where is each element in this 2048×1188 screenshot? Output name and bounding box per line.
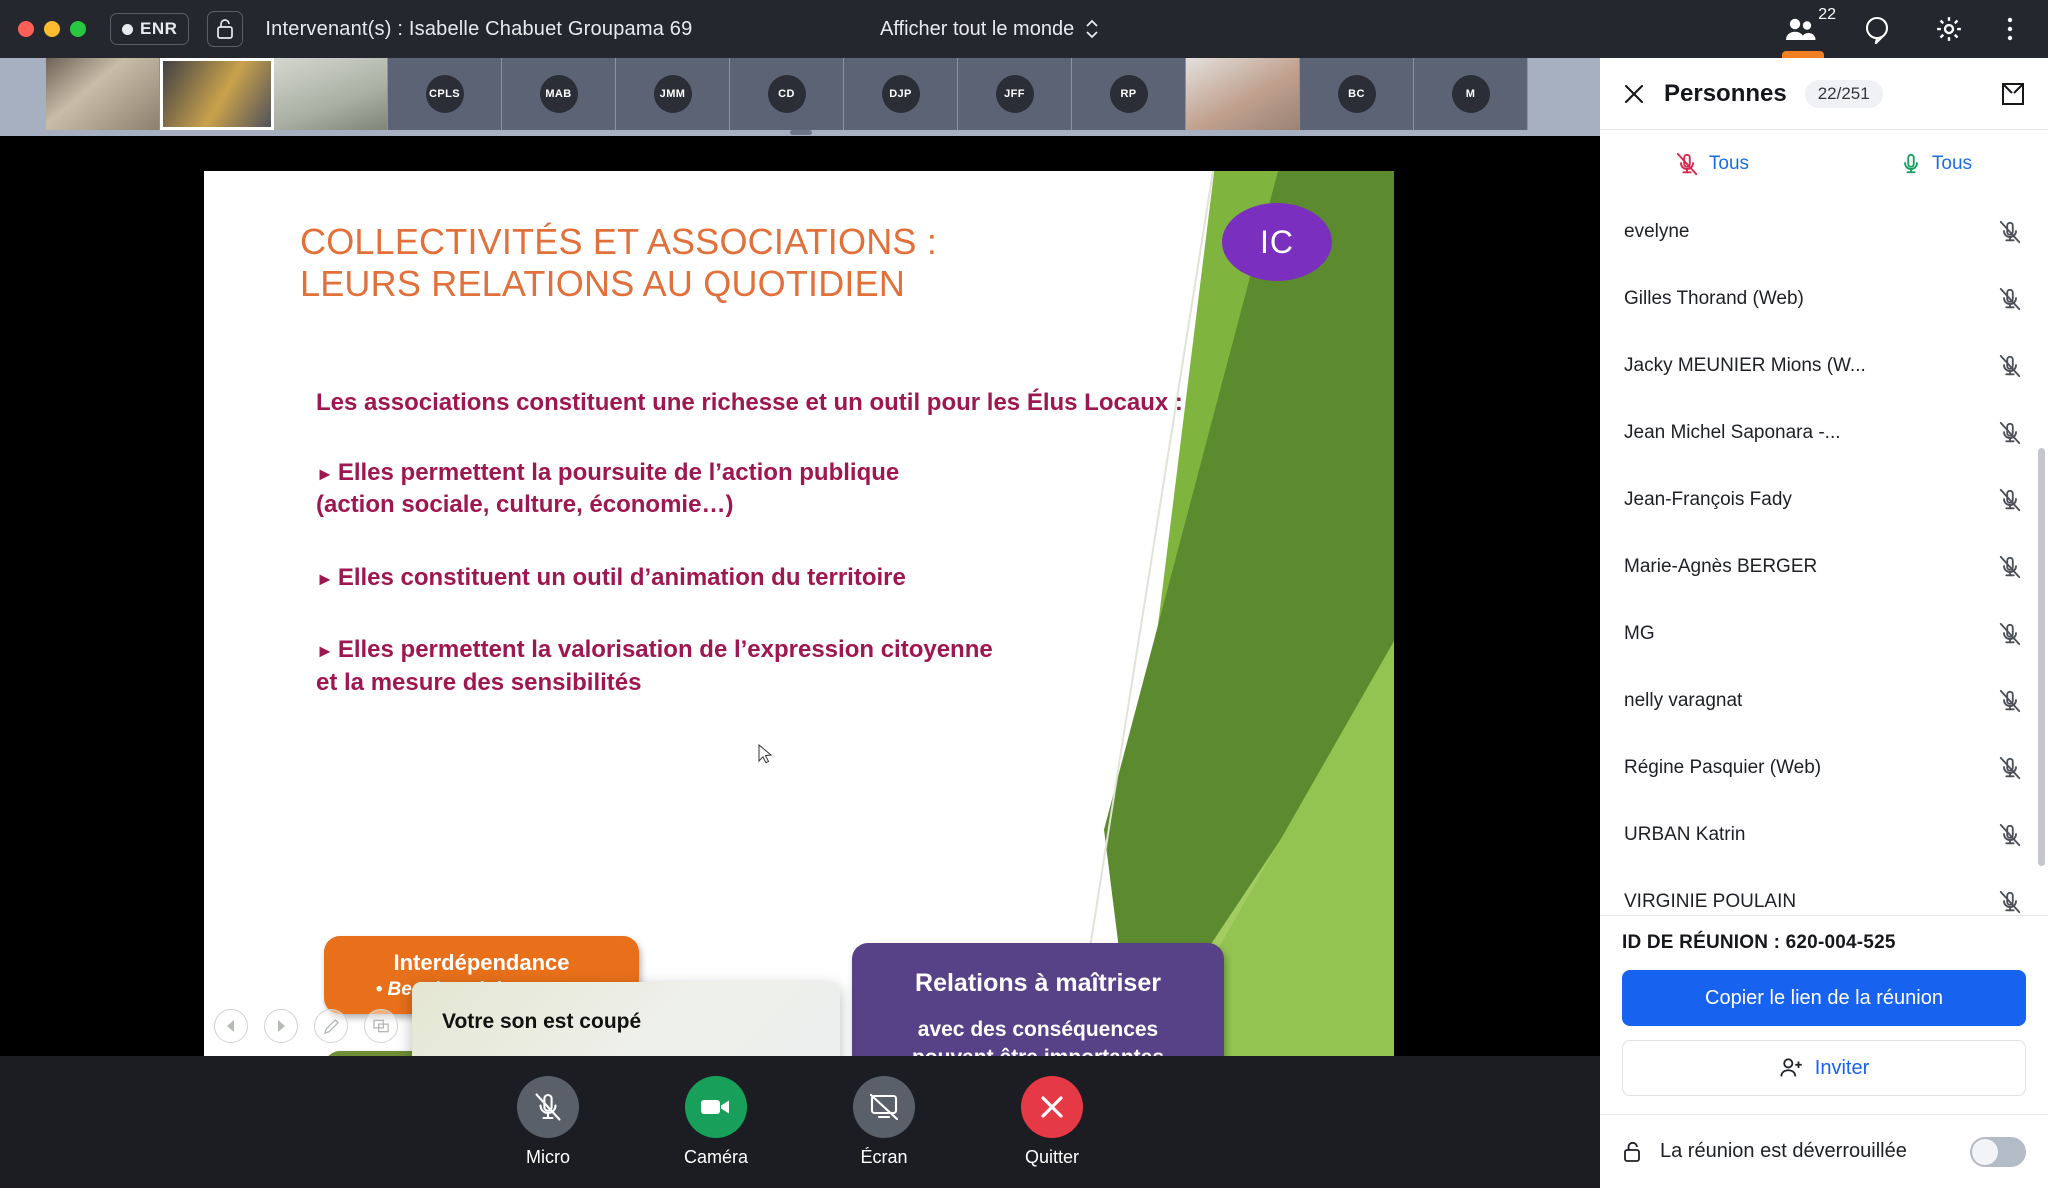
- minimize-window-button[interactable]: [44, 21, 60, 37]
- leave-button-label: Quitter: [1025, 1147, 1079, 1168]
- close-icon: [1039, 1094, 1065, 1120]
- list-item[interactable]: Jean Michel Saponara -...: [1600, 399, 2048, 466]
- tab-mute-all[interactable]: Tous: [1600, 151, 1824, 177]
- close-window-button[interactable]: [18, 21, 34, 37]
- panel-count-badge: 22/251: [1805, 80, 1883, 108]
- slide-lead-text: Les associations constituent une richess…: [316, 389, 1326, 417]
- filmstrip-thumb[interactable]: [46, 58, 160, 130]
- mic-button-label: Micro: [526, 1147, 570, 1168]
- presenter-initials: IC: [1260, 224, 1294, 261]
- mic-off-icon[interactable]: [1998, 822, 2022, 848]
- avatar: BC: [1338, 75, 1376, 113]
- slide-bullet: ►Elles permettent la valorisation de l’e…: [316, 634, 1326, 699]
- more-options-button[interactable]: [2006, 0, 2014, 58]
- participant-count-badge: 22: [1818, 6, 1836, 24]
- panel-title: Personnes: [1664, 80, 1787, 108]
- mic-off-icon: [1675, 151, 1699, 177]
- slide-body: Les associations constituent une richess…: [316, 389, 1326, 739]
- filmstrip-thumb[interactable]: BC: [1300, 58, 1414, 130]
- avatar: DJP: [882, 75, 920, 113]
- participant-name: Jean Michel Saponara -...: [1624, 422, 1841, 444]
- participant-name: Gilles Thorand (Web): [1624, 288, 1804, 310]
- participants-panel: Personnes 22/251: [1600, 58, 2048, 1188]
- list-item[interactable]: Marie-Agnès BERGER: [1600, 533, 2048, 600]
- copy-meeting-link-button[interactable]: Copier le lien de la réunion: [1622, 970, 2026, 1026]
- camera-icon: [700, 1096, 732, 1118]
- screen-share-button[interactable]: Écran: [826, 1076, 942, 1168]
- meeting-lock-row[interactable]: La réunion est déverrouillée: [1600, 1114, 2048, 1188]
- participant-name: Marie-Agnès BERGER: [1624, 556, 1817, 578]
- participant-name: Régine Pasquier (Web): [1624, 757, 1821, 779]
- shared-screen-stage: COLLECTIVITÉS ET ASSOCIATIONS : LEURS RE…: [0, 136, 1600, 1056]
- leave-button-circle[interactable]: [1021, 1076, 1083, 1138]
- unlock-icon: [1622, 1140, 1644, 1164]
- mic-off-icon[interactable]: [1998, 219, 2022, 245]
- slide-overview-button[interactable]: [364, 1009, 398, 1043]
- avatar: MAB: [540, 75, 578, 113]
- list-item[interactable]: evelyne: [1600, 198, 2048, 265]
- tab-mute-all-label: Tous: [1709, 153, 1749, 175]
- lock-toggle-knob: [1972, 1139, 1998, 1165]
- chat-bubble-icon: [1862, 14, 1892, 44]
- mic-off-icon[interactable]: [1998, 420, 2022, 446]
- mic-off-icon[interactable]: [1998, 554, 2022, 580]
- unlock-icon: [215, 18, 235, 40]
- chat-button[interactable]: [1862, 0, 1892, 58]
- list-item[interactable]: Jean-François Fady: [1600, 466, 2048, 533]
- mic-off-icon[interactable]: [1998, 688, 2022, 714]
- avatar: M: [1452, 75, 1490, 113]
- participant-name: evelyne: [1624, 221, 1690, 243]
- close-panel-button[interactable]: [1622, 82, 1646, 106]
- avatar: CPLS: [426, 75, 464, 113]
- kebab-menu-icon: [2006, 15, 2014, 43]
- titlebar-actions: 22: [1600, 0, 2048, 58]
- participant-name: Jean-François Fady: [1624, 489, 1792, 511]
- active-tab-indicator: [1782, 51, 1824, 58]
- participants-list[interactable]: evelyne Gilles Thorand (Web): [1600, 198, 2048, 915]
- slide-bullet: ►Elles permettent la poursuite de l’acti…: [316, 457, 1326, 522]
- mic-off-icon: [533, 1091, 563, 1123]
- popout-panel-button[interactable]: [2000, 81, 2026, 107]
- slide-title: COLLECTIVITÉS ET ASSOCIATIONS : LEURS RE…: [300, 221, 1060, 306]
- bullet-text: Elles constituent un outil d’animation d…: [338, 564, 906, 591]
- participant-name: nelly varagnat: [1624, 690, 1742, 712]
- mic-button[interactable]: Micro: [490, 1076, 606, 1168]
- mic-off-icon[interactable]: [1998, 755, 2022, 781]
- avatar: JMM: [654, 75, 692, 113]
- list-item[interactable]: MG: [1600, 600, 2048, 667]
- filmstrip-thumb[interactable]: [160, 58, 274, 130]
- slide-bullet: ►Elles constituent un outil d’animation …: [316, 562, 1326, 594]
- filmstrip-thumb[interactable]: M: [1414, 58, 1528, 130]
- filmstrip-thumb[interactable]: MAB: [502, 58, 616, 130]
- filmstrip-thumb[interactable]: RP: [1072, 58, 1186, 130]
- participants-scrollbar[interactable]: [2038, 448, 2045, 866]
- panel-tabs: Tous Tous: [1600, 130, 2048, 198]
- list-item[interactable]: Gilles Thorand (Web): [1600, 265, 2048, 332]
- bullet-text-cont: (action sociale, culture, économie…): [316, 489, 1326, 521]
- participant-name: MG: [1624, 623, 1655, 645]
- box-title: Interdépendance: [393, 950, 569, 976]
- meeting-toolbar: Micro Caméra: [0, 1056, 1600, 1188]
- participant-filmstrip[interactable]: CPLS MAB JMM CD DJP JFF RP BC M: [0, 58, 1600, 136]
- slide-title-line2: LEURS RELATIONS AU QUOTIDIEN: [300, 263, 1060, 305]
- bullet-text: Elles permettent la valorisation de l’ex…: [338, 636, 993, 663]
- recording-dot-icon: [122, 24, 133, 35]
- pen-tool-button[interactable]: [314, 1009, 348, 1043]
- list-item[interactable]: Régine Pasquier (Web): [1600, 734, 2048, 801]
- panel-header: Personnes 22/251: [1600, 58, 2048, 130]
- list-item[interactable]: URBAN Katrin: [1600, 801, 2048, 868]
- play-slide-button[interactable]: [264, 1009, 298, 1043]
- camera-button-circle[interactable]: [685, 1076, 747, 1138]
- slide-title-line1: COLLECTIVITÉS ET ASSOCIATIONS :: [300, 221, 1060, 263]
- filmstrip-track[interactable]: CPLS MAB JMM CD DJP JFF RP BC M: [46, 58, 1528, 130]
- meeting-id-label: ID DE RÉUNION : 620-004-525: [1622, 932, 2026, 954]
- leave-button[interactable]: Quitter: [994, 1076, 1110, 1168]
- filmstrip-thumb[interactable]: [1186, 58, 1300, 130]
- participants-button[interactable]: 22: [1786, 0, 1820, 58]
- filmstrip-thumb[interactable]: JMM: [616, 58, 730, 130]
- mic-off-icon[interactable]: [1998, 353, 2022, 379]
- participant-name: URBAN Katrin: [1624, 824, 1745, 846]
- bullet-arrow-icon: ►: [316, 641, 334, 661]
- view-selector-label: Afficher tout le monde: [880, 18, 1074, 41]
- tab-unmute-all-label: Tous: [1932, 153, 1972, 175]
- meeting-window: ENR Intervenant(s) : Isabelle Chabuet Gr…: [0, 0, 2048, 1188]
- list-item[interactable]: nelly varagnat: [1600, 667, 2048, 734]
- screen-share-button-circle[interactable]: [853, 1076, 915, 1138]
- filmstrip-thumb[interactable]: CD: [730, 58, 844, 130]
- recording-badge[interactable]: ENR: [110, 13, 189, 45]
- participant-name: VIRGINIE POULAIN: [1624, 891, 1796, 913]
- bullet-text: Elles permettent la poursuite de l’actio…: [338, 459, 899, 486]
- window-controls[interactable]: [18, 21, 86, 37]
- mic-off-icon[interactable]: [1998, 889, 2022, 915]
- recording-label: ENR: [140, 19, 177, 39]
- participant-name: Jacky MEUNIER Mions (W...: [1624, 355, 1866, 377]
- filmstrip-thumb[interactable]: CPLS: [388, 58, 502, 130]
- lock-button[interactable]: [207, 11, 243, 47]
- lock-toggle[interactable]: [1970, 1137, 2026, 1167]
- mic-off-icon[interactable]: [1998, 621, 2022, 647]
- mic-on-icon: [1900, 151, 1922, 177]
- tooltip-title: Votre son est coupé: [442, 1010, 810, 1034]
- box-subtitle-line1: avec des conséquences: [918, 1016, 1158, 1044]
- previous-slide-button[interactable]: [214, 1009, 248, 1043]
- invite-button-label: Inviter: [1815, 1057, 1869, 1080]
- bullet-arrow-icon: ►: [316, 464, 334, 484]
- mouse-cursor-icon: [758, 744, 774, 766]
- filmstrip-resize-handle[interactable]: [790, 130, 812, 135]
- settings-button[interactable]: [1934, 0, 1964, 58]
- presenter-avatar: IC: [1222, 203, 1332, 281]
- list-item[interactable]: VIRGINIE POULAIN: [1600, 868, 2048, 915]
- screen-share-button-label: Écran: [860, 1147, 907, 1168]
- invite-button[interactable]: Inviter: [1622, 1040, 2026, 1096]
- gear-icon: [1934, 14, 1964, 44]
- avatar: CD: [768, 75, 806, 113]
- mic-button-circle[interactable]: [517, 1076, 579, 1138]
- filmstrip-thumb[interactable]: [274, 58, 388, 130]
- title-bar: ENR Intervenant(s) : Isabelle Chabuet Gr…: [0, 0, 1600, 58]
- view-selector[interactable]: Afficher tout le monde: [880, 0, 1100, 58]
- avatar: JFF: [996, 75, 1034, 113]
- filmstrip-thumb[interactable]: DJP: [844, 58, 958, 130]
- people-icon: [1786, 16, 1820, 42]
- presenter-label: Intervenant(s) : Isabelle Chabuet Groupa…: [265, 18, 692, 41]
- list-item[interactable]: Jacky MEUNIER Mions (W...: [1600, 332, 2048, 399]
- lock-status-label: La réunion est déverrouillée: [1660, 1140, 1954, 1163]
- bullet-text-cont: et la mesure des sensibilités: [316, 667, 1326, 699]
- bullet-arrow-icon: ►: [316, 569, 334, 589]
- camera-button[interactable]: Caméra: [658, 1076, 774, 1168]
- panel-footer: ID DE RÉUNION : 620-004-525 Copier le li…: [1600, 915, 2048, 1096]
- maximize-window-button[interactable]: [70, 21, 86, 37]
- add-user-icon: [1779, 1056, 1805, 1080]
- chevron-updown-icon: [1084, 16, 1100, 42]
- avatar: RP: [1110, 75, 1148, 113]
- screen-off-icon: [869, 1093, 899, 1121]
- box-title: Relations à maîtriser: [915, 969, 1161, 998]
- slide-box-relations: Relations à maîtriser avec des conséquen…: [852, 943, 1224, 1061]
- presentation-slide: COLLECTIVITÉS ET ASSOCIATIONS : LEURS RE…: [204, 171, 1394, 1061]
- tab-unmute-all[interactable]: Tous: [1824, 151, 2048, 177]
- filmstrip-thumb[interactable]: JFF: [958, 58, 1072, 130]
- mic-off-icon[interactable]: [1998, 286, 2022, 312]
- mic-off-icon[interactable]: [1998, 487, 2022, 513]
- camera-button-label: Caméra: [684, 1147, 748, 1168]
